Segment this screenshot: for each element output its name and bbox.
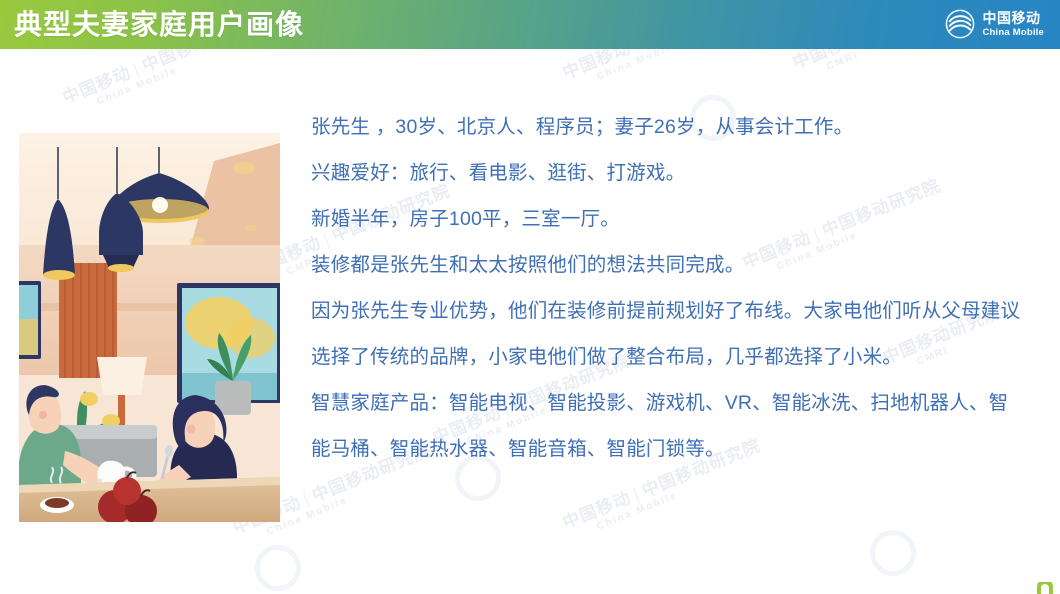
brand-text: 中国移动 China Mobile	[982, 11, 1044, 38]
slide: 中国移动|中国移动研究院 China Mobile 中国移动|中国移动研究院 C…	[0, 0, 1060, 594]
paragraph: 装修都是张先生和太太按照他们的想法共同完成。	[311, 242, 1023, 288]
watermark-cn: 中国移动	[560, 488, 634, 533]
watermark-ring-icon	[255, 545, 301, 591]
corner-mark	[1036, 582, 1054, 594]
paragraph: 张先生 ，30岁、北京人、程序员；妻子26岁，从事会计工作。	[311, 104, 1023, 150]
paragraph: 新婚半年，房子100平，三室一厅。	[311, 196, 1023, 242]
paragraph: 智慧家庭产品：智能电视、智能投影、游戏机、VR、智能冰洗、扫地机器人、智能马桶、…	[311, 380, 1023, 472]
watermark-separator: |	[297, 488, 317, 511]
watermark-separator: |	[627, 483, 647, 506]
paragraph: 兴趣爱好：旅行、看电影、逛街、打游戏。	[311, 150, 1023, 196]
watermark-separator: |	[127, 58, 147, 81]
watermark-cn: 中国移动	[60, 63, 134, 108]
watermark-ring-icon	[870, 530, 916, 576]
brand-name-en: China Mobile	[982, 28, 1044, 38]
body-copy: 张先生 ，30岁、北京人、程序员；妻子26岁，从事会计工作。 兴趣爱好：旅行、看…	[311, 104, 1023, 472]
family-illustration	[19, 133, 280, 522]
china-mobile-logo-icon	[945, 9, 975, 39]
paragraph: 因为张先生专业优势，他们在装修前提前规划好了布线。大家电他们听从父母建议选择了传…	[311, 288, 1023, 380]
page-title: 典型夫妻家庭用户画像	[14, 6, 304, 44]
brand-logo: 中国移动 China Mobile	[945, 9, 1044, 39]
brand-name-cn: 中国移动	[982, 11, 1044, 25]
illustration-svg	[19, 133, 280, 522]
header-band: 典型夫妻家庭用户画像 中国移动 China Mobile	[0, 0, 1060, 49]
green-corner-mark-icon	[1036, 582, 1054, 594]
